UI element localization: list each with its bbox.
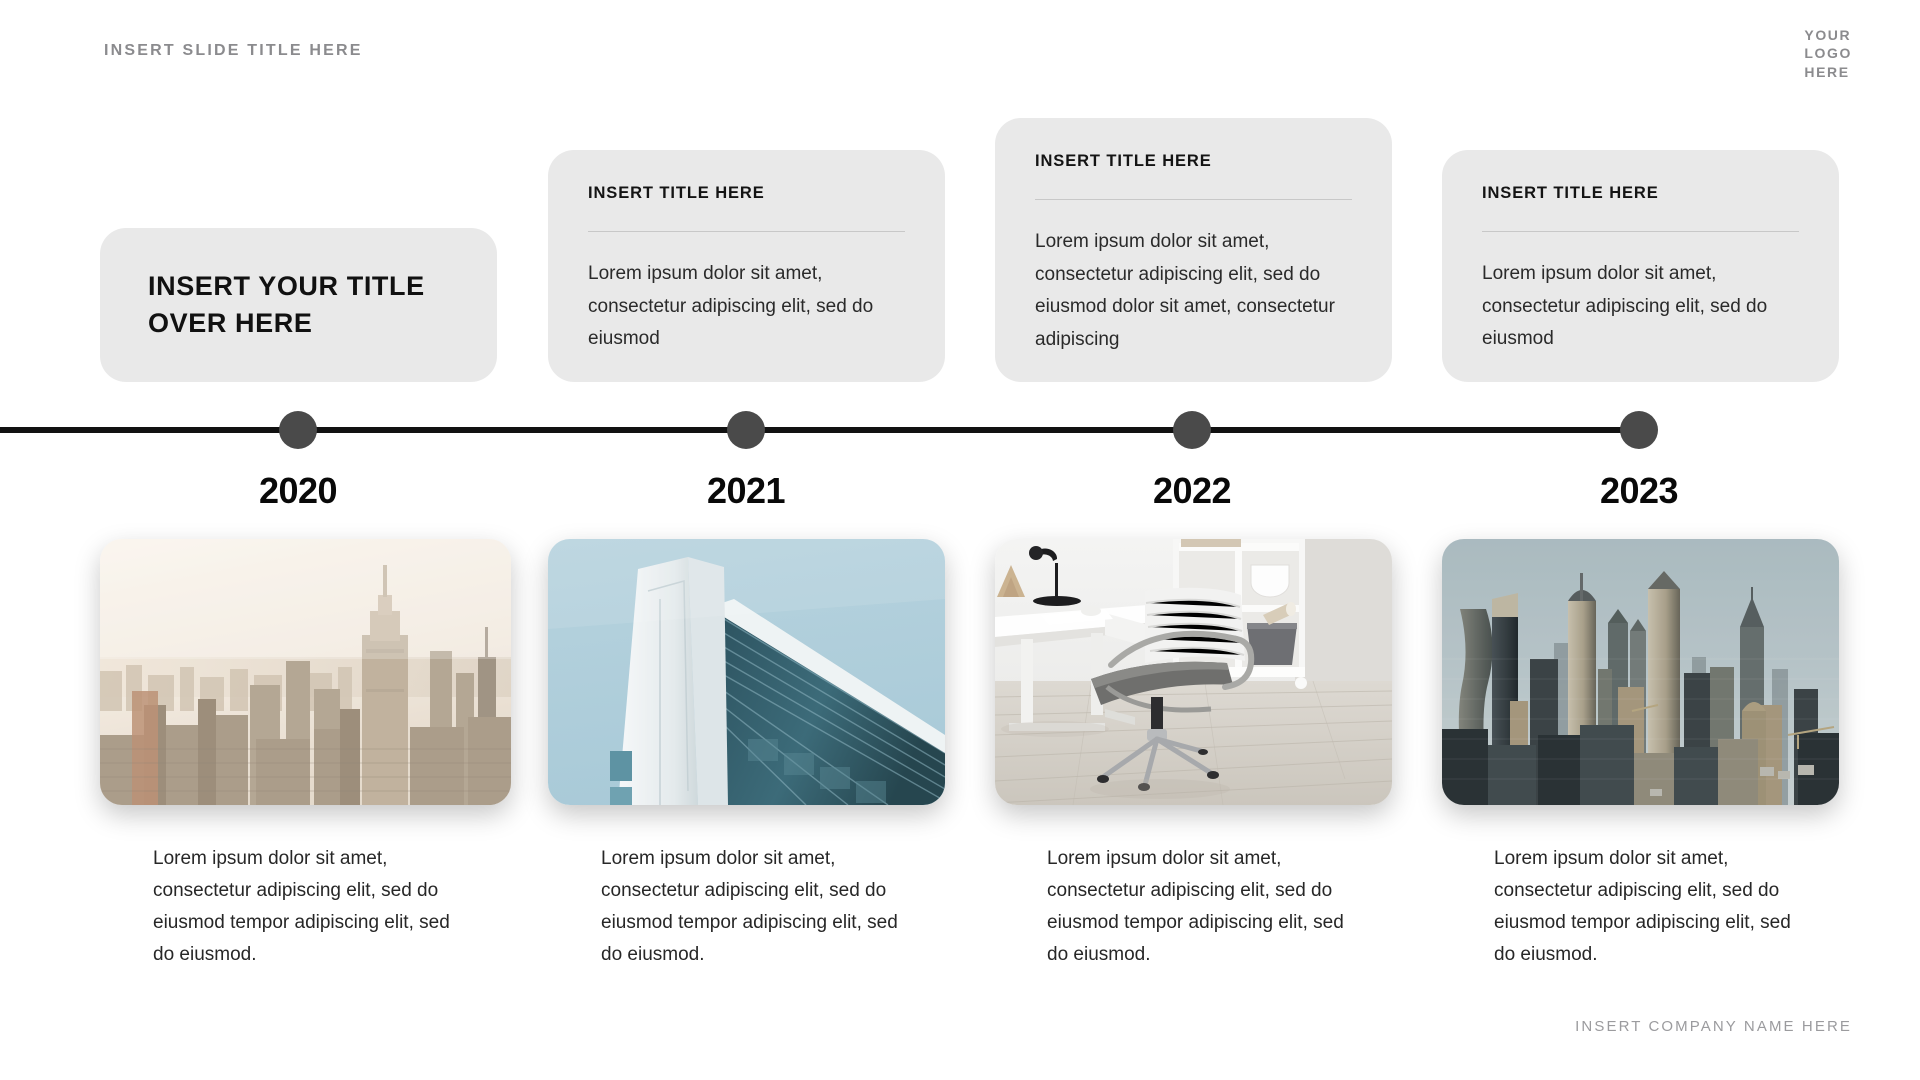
info-card-2021-title: INSERT TITLE HERE <box>588 184 905 203</box>
logo-line-1: YOUR <box>1804 26 1852 44</box>
logo-line-3: HERE <box>1804 63 1852 81</box>
office-desk-chair-photo[interactable] <box>995 539 1392 805</box>
dubai-skyscrapers-photo-graphic <box>1442 539 1839 805</box>
info-card-2021[interactable]: INSERT TITLE HERE Lorem ipsum dolor sit … <box>548 150 945 382</box>
info-card-2023-title: INSERT TITLE HERE <box>1482 184 1799 203</box>
timeline-dot-2021[interactable] <box>727 411 765 449</box>
modern-glass-building-photo[interactable] <box>548 539 945 805</box>
timeline-dot-2023[interactable] <box>1620 411 1658 449</box>
headline-card-title-line2: OVER HERE <box>148 308 312 338</box>
info-card-2022-title: INSERT TITLE HERE <box>1035 152 1352 171</box>
office-desk-chair-photo-graphic <box>995 539 1392 805</box>
timeline-dot-2020[interactable] <box>279 411 317 449</box>
info-card-2022[interactable]: INSERT TITLE HERE Lorem ipsum dolor sit … <box>995 118 1392 382</box>
year-label-2020: 2020 <box>259 470 337 512</box>
city-skyline-sepia-photo-graphic <box>100 539 511 805</box>
headline-card-title-line1: INSERT YOUR TITLE <box>148 271 425 301</box>
logo-line-2: LOGO <box>1804 44 1852 62</box>
timeline-dot-2022[interactable] <box>1173 411 1211 449</box>
info-card-2021-body: Lorem ipsum dolor sit amet, consectetur … <box>588 258 905 356</box>
year-label-2021: 2021 <box>707 470 785 512</box>
year-label-2023: 2023 <box>1600 470 1678 512</box>
city-skyline-sepia-photo[interactable] <box>100 539 511 805</box>
info-card-2023-divider <box>1482 231 1799 232</box>
info-card-2022-divider <box>1035 199 1352 200</box>
info-card-2022-body: Lorem ipsum dolor sit amet, consectetur … <box>1035 226 1352 357</box>
dubai-skyscrapers-photo[interactable] <box>1442 539 1839 805</box>
slide-canvas: INSERT SLIDE TITLE HERE YOUR LOGO HERE I… <box>0 0 1920 1080</box>
caption-2021: Lorem ipsum dolor sit amet, consectetur … <box>601 843 901 971</box>
logo-placeholder: YOUR LOGO HERE <box>1804 26 1852 81</box>
headline-card-title: INSERT YOUR TITLE OVER HERE <box>148 268 425 343</box>
caption-2023: Lorem ipsum dolor sit amet, consectetur … <box>1494 843 1794 971</box>
year-label-2022: 2022 <box>1153 470 1231 512</box>
footer-company-name: INSERT COMPANY NAME HERE <box>1575 1018 1852 1035</box>
caption-2022: Lorem ipsum dolor sit amet, consectetur … <box>1047 843 1347 971</box>
slide-title: INSERT SLIDE TITLE HERE <box>104 42 363 60</box>
caption-2020: Lorem ipsum dolor sit amet, consectetur … <box>153 843 453 971</box>
info-card-2021-divider <box>588 231 905 232</box>
modern-glass-building-photo-graphic <box>548 539 945 805</box>
timeline-axis <box>0 427 1646 433</box>
headline-card[interactable]: INSERT YOUR TITLE OVER HERE <box>100 228 497 382</box>
info-card-2023-body: Lorem ipsum dolor sit amet, consectetur … <box>1482 258 1799 356</box>
info-card-2023[interactable]: INSERT TITLE HERE Lorem ipsum dolor sit … <box>1442 150 1839 382</box>
